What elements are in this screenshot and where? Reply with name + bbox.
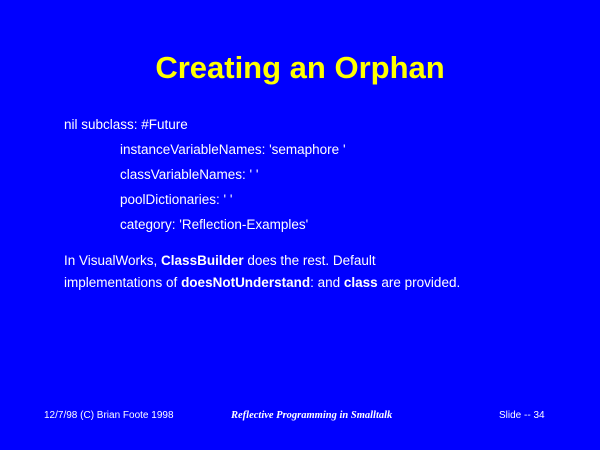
footer-presentation-title: Reflective Programming in Smalltalk xyxy=(231,410,392,421)
slide-footer: 12/7/98 (C) Brian Foote 1998 Reflective … xyxy=(0,410,600,450)
body-paragraph: In VisualWorks, ClassBuilder does the re… xyxy=(64,250,474,294)
paragraph-part-1: In VisualWorks, xyxy=(64,253,161,268)
paragraph-bold-classbuilder: ClassBuilder xyxy=(161,253,244,268)
paragraph-part-3: : and xyxy=(310,275,344,290)
footer-copyright: 12/7/98 (C) Brian Foote 1998 xyxy=(44,410,174,421)
paragraph-bold-doesnotunderstand: doesNotUnderstand xyxy=(181,275,310,290)
slide: Creating an Orphan nil subclass: #Future… xyxy=(0,0,600,450)
paragraph-part-4: are provided. xyxy=(378,275,461,290)
page-title: Creating an Orphan xyxy=(0,50,600,86)
code-line-1: nil subclass: #Future xyxy=(64,112,346,137)
code-line-5: category: 'Reflection-Examples' xyxy=(64,212,346,237)
code-line-4: poolDictionaries: ' ' xyxy=(64,187,346,212)
code-line-3: classVariableNames: ' ' xyxy=(64,162,346,187)
code-line-2: instanceVariableNames: 'semaphore ' xyxy=(64,137,346,162)
footer-slide-number: Slide -- 34 xyxy=(499,410,545,421)
code-block: nil subclass: #Future instanceVariableNa… xyxy=(64,112,346,237)
paragraph-bold-class: class xyxy=(344,275,378,290)
